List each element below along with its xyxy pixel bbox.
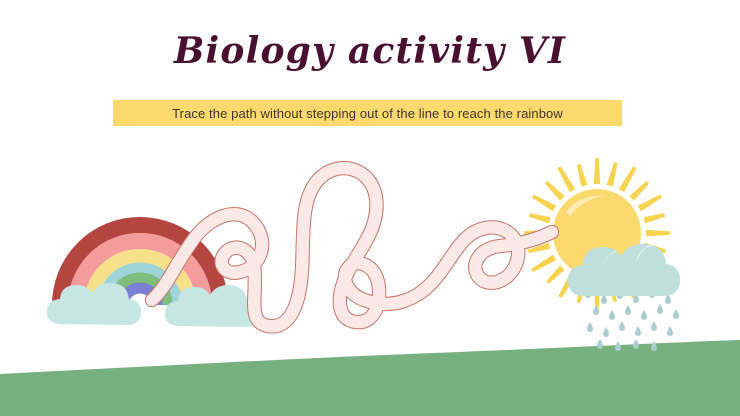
instruction-banner: Trace the path without stepping out of t… <box>113 100 622 126</box>
green-hill <box>0 340 740 416</box>
page-title: Biology activity VI <box>0 32 740 72</box>
slide-canvas: Biology activity VI Trace the path witho… <box>0 0 740 416</box>
instruction-text: Trace the path without stepping out of t… <box>172 106 563 121</box>
